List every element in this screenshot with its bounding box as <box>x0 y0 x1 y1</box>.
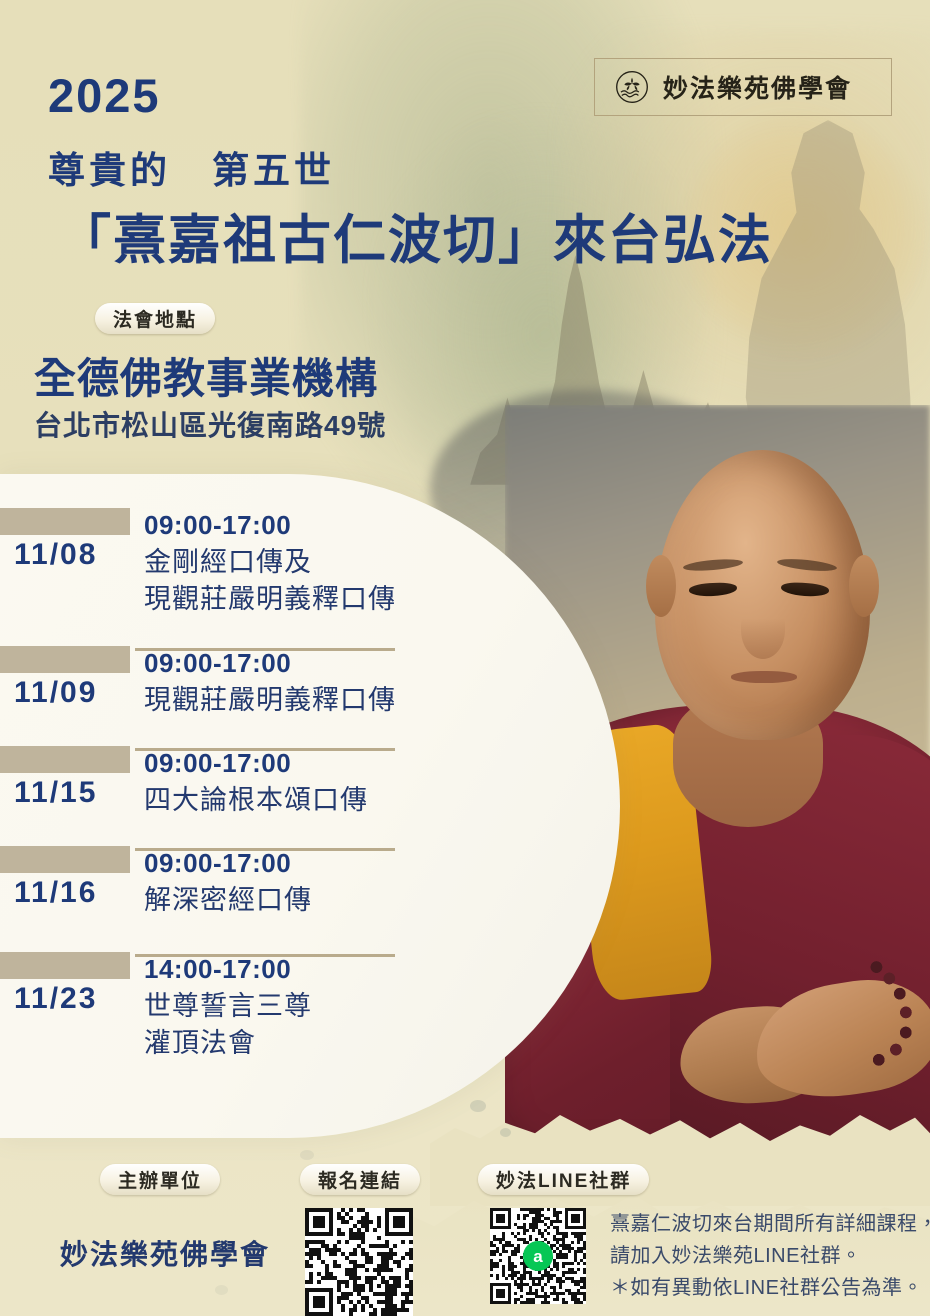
schedule-time: 09:00-17:00 <box>144 648 291 679</box>
row-tan-bar <box>0 746 130 773</box>
subtitle-heading: 尊貴的 第五世 <box>48 140 335 194</box>
row-tan-bar <box>0 952 130 979</box>
ear-left <box>646 555 676 617</box>
schedule-time: 09:00-17:00 <box>144 510 291 541</box>
venue-name: 全德佛教事業機構 <box>34 345 378 406</box>
line-community-qr-code[interactable]: a <box>490 1208 586 1304</box>
nose <box>741 601 785 659</box>
schedule-time: 09:00-17:00 <box>144 748 291 779</box>
mouth <box>731 671 797 683</box>
organizer-name: 妙法樂苑佛學會 <box>60 1233 270 1273</box>
ear-right <box>849 555 879 617</box>
schedule-date: 11/16 <box>14 876 97 910</box>
paint-speck <box>500 1128 511 1137</box>
page-title: 「熹嘉祖古仁波切」來台弘法 <box>58 198 773 274</box>
schedule-time: 14:00-17:00 <box>144 954 291 985</box>
paint-speck <box>470 1100 486 1112</box>
venue-address: 台北市松山區光復南路49號 <box>34 404 386 444</box>
row-tan-bar <box>0 508 130 535</box>
buddha-silhouette-icon <box>737 120 912 450</box>
venue-badge: 法會地點 <box>95 303 215 334</box>
schedule-topic: 金剛經口傳及 現觀莊嚴明義釋口傳 <box>144 544 396 618</box>
note-line: ＊如有異動依LINE社群公告為準。 <box>610 1272 930 1304</box>
schedule-time: 09:00-17:00 <box>144 848 291 879</box>
paint-speck <box>300 1150 314 1160</box>
schedule-date: 11/08 <box>14 538 97 572</box>
paint-speck <box>215 1285 228 1295</box>
schedule-date: 11/23 <box>14 982 97 1016</box>
schedule-date: 11/15 <box>14 776 97 810</box>
schedule-list: 11/08 09:00-17:00 金剛經口傳及 現觀莊嚴明義釋口傳 11/09… <box>0 474 430 1138</box>
row-tan-bar <box>0 646 130 673</box>
line-community-badge: 妙法LINE社群 <box>478 1164 649 1195</box>
line-app-icon: a <box>523 1241 553 1271</box>
year-heading: 2025 <box>48 68 161 123</box>
organizer-badge: 主辦單位 <box>100 1164 220 1195</box>
schedule-topic: 解深密經口傳 <box>144 882 312 919</box>
schedule-date: 11/09 <box>14 676 97 710</box>
prayer-beads <box>855 958 929 1082</box>
organization-logo-box: 妙法樂苑佛學會 <box>594 58 892 116</box>
registration-qr-code[interactable] <box>305 1208 413 1316</box>
row-tan-bar <box>0 846 130 873</box>
line-glyph: a <box>533 1248 542 1265</box>
schedule-topic: 四大論根本頌口傳 <box>144 782 368 819</box>
footer-notes: 熹嘉仁波切來台期間所有詳細課程， 請加入妙法樂苑LINE社群。 ＊如有異動依LI… <box>610 1208 930 1304</box>
signup-badge: 報名連結 <box>300 1164 420 1195</box>
schedule-topic: 現觀莊嚴明義釋口傳 <box>144 682 396 719</box>
schedule-topic: 世尊誓言三尊 灌頂法會 <box>144 988 312 1062</box>
organization-name: 妙法樂苑佛學會 <box>663 69 852 105</box>
note-line: 熹嘉仁波切來台期間所有詳細課程， <box>610 1208 930 1240</box>
lotus-wave-emblem-icon <box>615 70 649 104</box>
note-line: 請加入妙法樂苑LINE社群。 <box>610 1240 930 1272</box>
poster-root: 妙法樂苑佛學會 2025 尊貴的 第五世 「熹嘉祖古仁波切」來台弘法 法會地點 … <box>0 0 930 1316</box>
